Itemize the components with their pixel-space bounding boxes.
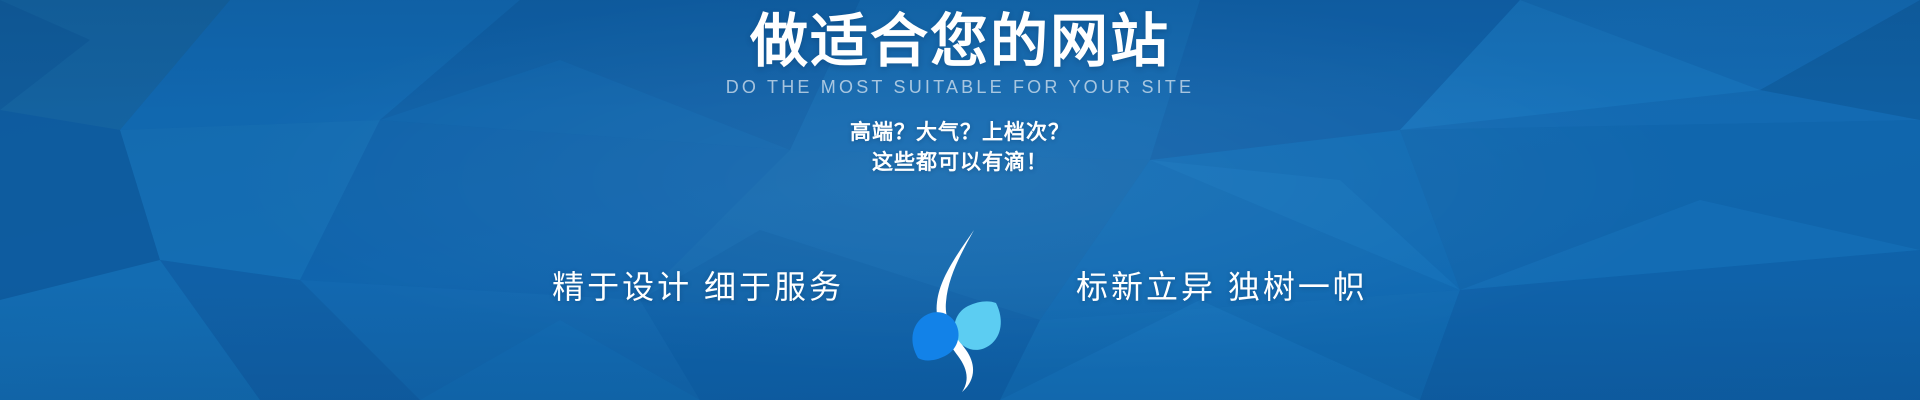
logo-leaf-upper (954, 301, 1000, 350)
banner-headline: 做适合您的网站 (750, 12, 1170, 73)
banner-subheadline-english: DO THE MOST SUITABLE FOR YOUR SITE (726, 77, 1195, 99)
banner-question-block: 高端？大气？上档次？ 这些都可以有滴！ (850, 118, 1070, 178)
banner-content: 做适合您的网站 DO THE MOST SUITABLE FOR YOUR SI… (0, 0, 1920, 400)
tagline-right: 标新立异 独树一帜 (1076, 262, 1386, 308)
leaf-s-curve-logo-icon (900, 226, 1020, 396)
hero-banner: 做适合您的网站 DO THE MOST SUITABLE FOR YOUR SI… (0, 0, 1920, 400)
logo-leaf-lower (912, 312, 958, 360)
tagline-left: 精于设计 细于服务 (534, 262, 844, 308)
question-line-1: 高端？大气？上档次？ (850, 118, 1070, 148)
question-line-2: 这些都可以有滴！ (850, 148, 1070, 178)
tagline-row: 精于设计 细于服务 标新立异 独树一帜 (534, 200, 1386, 370)
